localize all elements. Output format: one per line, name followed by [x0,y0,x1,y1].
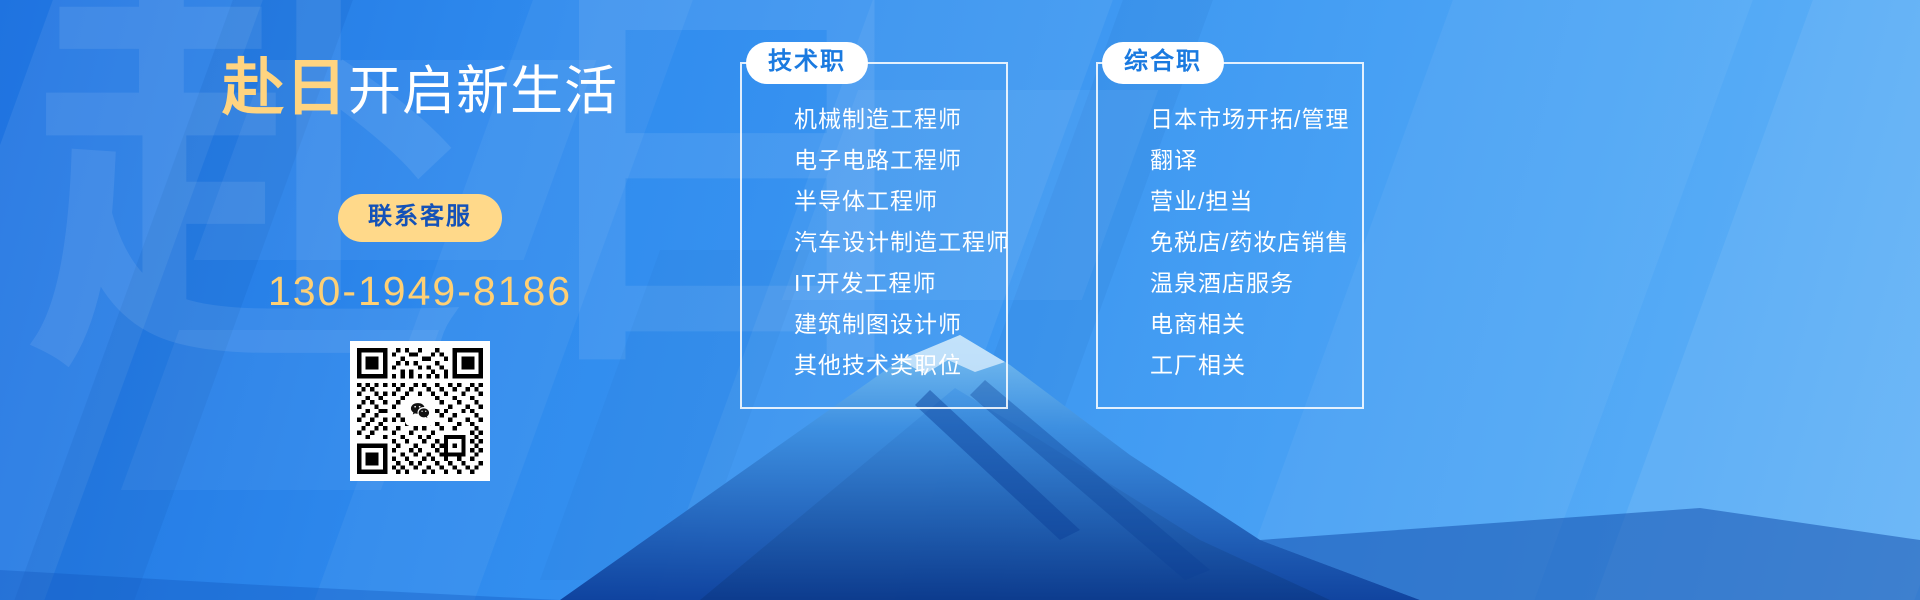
job-column-technical: 技术职 机械制造工程师 电子电路工程师 半导体工程师 汽车设计制造工程师 IT开… [740,62,1008,409]
promo-banner: 赴日 赴日开启新生活 联系 [0,0,1920,600]
list-item[interactable]: 机械制造工程师 [772,108,976,149]
headline-accent: 赴日 [222,54,348,123]
list-item[interactable]: 汽车设计制造工程师 [772,231,976,272]
list-item[interactable]: 半导体工程师 [772,190,976,231]
job-list-technical: 机械制造工程师 电子电路工程师 半导体工程师 汽车设计制造工程师 IT开发工程师… [772,108,976,377]
wechat-icon [405,396,435,426]
phone-number[interactable]: 130-1949-8186 [268,268,572,315]
list-item[interactable]: 工厂相关 [1128,354,1332,377]
contact-support-button[interactable]: 联系客服 [338,194,502,242]
qr-code[interactable] [350,341,490,481]
job-column-general-badge[interactable]: 综合职 [1102,42,1224,84]
list-item[interactable]: 其他技术类职位 [772,354,976,377]
job-list-general: 日本市场开拓/管理 翻译 营业/担当 免税店/药妆店销售 温泉酒店服务 电商相关… [1128,108,1332,377]
job-column-general-box: 日本市场开拓/管理 翻译 营业/担当 免税店/药妆店销售 温泉酒店服务 电商相关… [1096,62,1364,409]
page-title: 赴日开启新生活 [222,58,618,120]
list-item[interactable]: 免税店/药妆店销售 [1128,231,1332,272]
list-item[interactable]: 电商相关 [1128,313,1332,354]
list-item[interactable]: 翻译 [1128,149,1332,190]
headline-plain: 开启新生活 [348,62,618,121]
list-item[interactable]: IT开发工程师 [772,272,976,313]
job-categories: 技术职 机械制造工程师 电子电路工程师 半导体工程师 汽车设计制造工程师 IT开… [740,62,1364,409]
job-column-general: 综合职 日本市场开拓/管理 翻译 营业/担当 免税店/药妆店销售 温泉酒店服务 … [1096,62,1364,409]
list-item[interactable]: 日本市场开拓/管理 [1128,108,1332,149]
job-column-technical-badge[interactable]: 技术职 [746,42,868,84]
list-item[interactable]: 电子电路工程师 [772,149,976,190]
list-item[interactable]: 营业/担当 [1128,190,1332,231]
list-item[interactable]: 建筑制图设计师 [772,313,976,354]
job-column-technical-box: 机械制造工程师 电子电路工程师 半导体工程师 汽车设计制造工程师 IT开发工程师… [740,62,1008,409]
left-content-panel: 赴日开启新生活 联系客服 130-1949-8186 [170,30,670,570]
list-item[interactable]: 温泉酒店服务 [1128,272,1332,313]
